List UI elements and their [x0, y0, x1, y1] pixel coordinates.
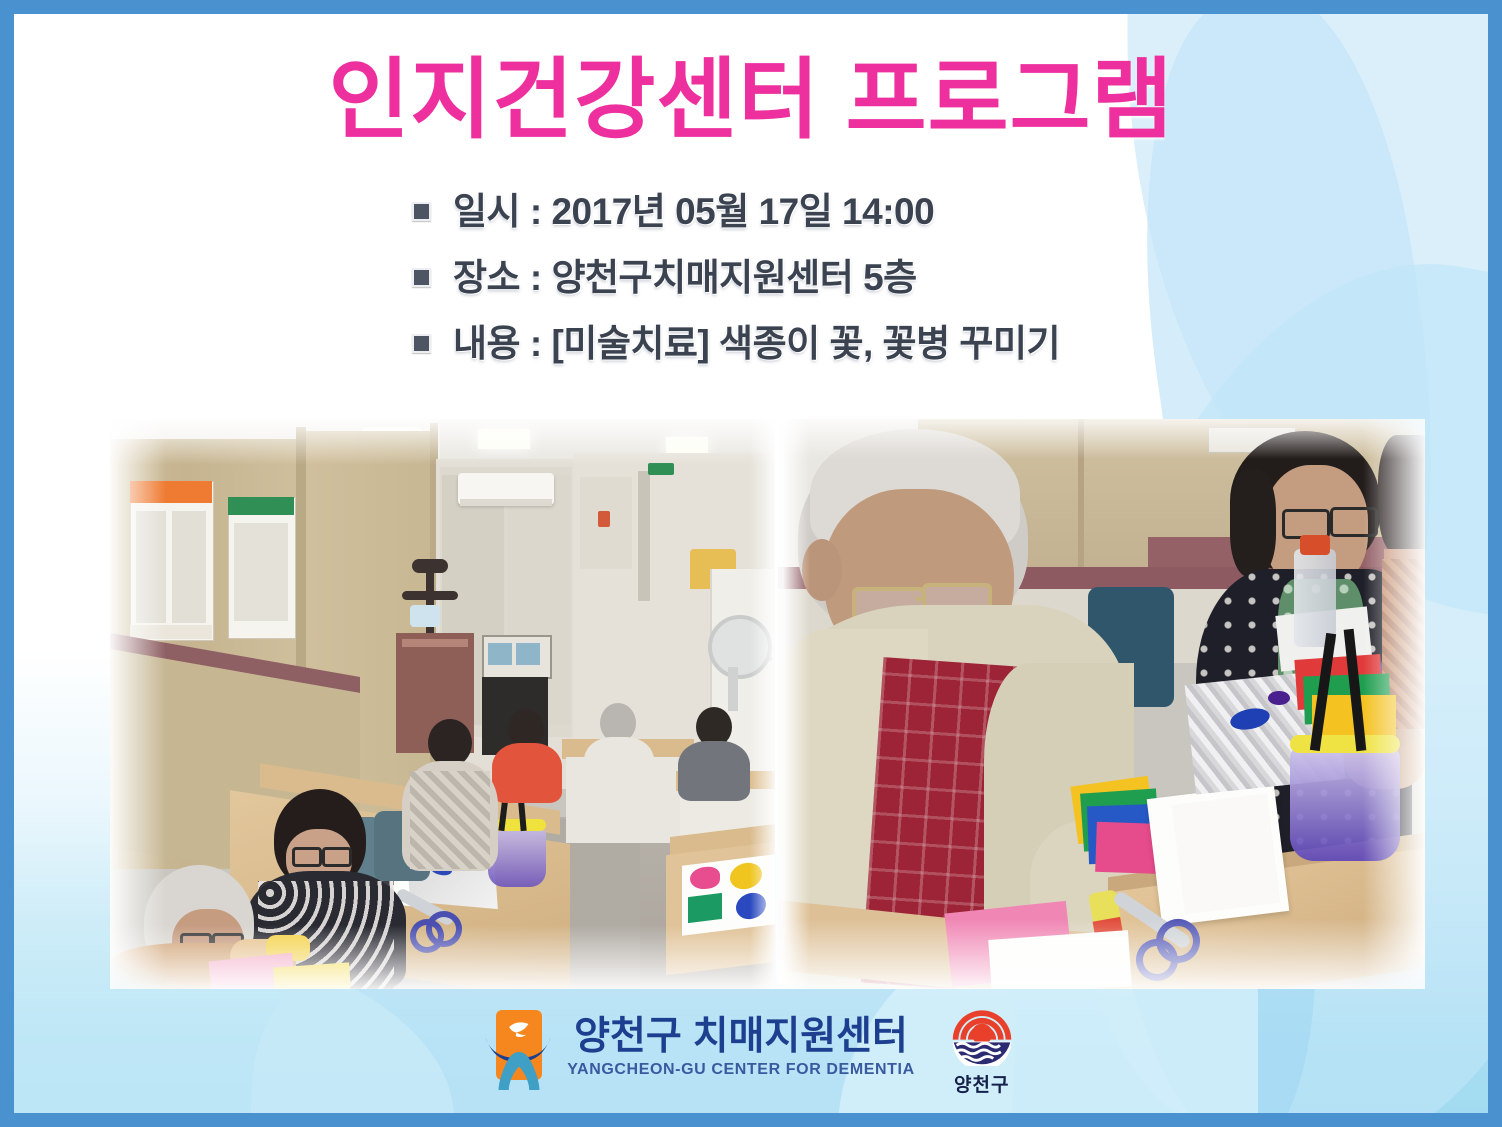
square-bullet-icon	[412, 334, 431, 353]
photo-collage	[110, 419, 1425, 989]
detail-content-text: 내용 : [미술치료] 색종이 꽃, 꽃병 꾸미기	[453, 324, 1060, 364]
yangcheon-dementia-center-logo-icon	[487, 1008, 549, 1088]
footer-logos: 양천구 치매지원센터 YANGCHEON-GU CENTER FOR DEMEN…	[14, 983, 1488, 1113]
center-name-english: YANGCHEON-GU CENTER FOR DEMENTIA	[567, 1061, 915, 1079]
detail-list: 일시 : 2017년 05월 17일 14:00 장소 : 양천구치매지원센터 …	[14, 192, 1488, 390]
detail-place-text: 장소 : 양천구치매지원센터 5층	[453, 258, 917, 298]
photo-seam	[750, 419, 810, 989]
center-name-block: 양천구 치매지원센터 YANGCHEON-GU CENTER FOR DEMEN…	[567, 1017, 915, 1079]
list-item: 장소 : 양천구치매지원센터 5층	[14, 258, 1488, 298]
yangcheon-gu-emblem: 양천구	[949, 1000, 1015, 1097]
list-item: 일시 : 2017년 05월 17일 14:00	[14, 192, 1488, 232]
page-title: 인지건강센터 프로그램	[14, 56, 1488, 144]
poster-frame: 인지건강센터 프로그램 일시 : 2017년 05월 17일 14:00 장소 …	[0, 0, 1502, 1127]
center-name-korean: 양천구 치매지원센터	[574, 1017, 908, 1058]
seniors-closeup-photo	[778, 419, 1425, 989]
yangcheon-gu-emblem-icon	[949, 1000, 1015, 1066]
square-bullet-icon	[412, 202, 431, 221]
square-bullet-icon	[412, 268, 431, 287]
poster-canvas: 인지건강센터 프로그램 일시 : 2017년 05월 17일 14:00 장소 …	[14, 14, 1488, 1113]
teal-figure-icon	[497, 1052, 541, 1090]
classroom-wide-photo	[110, 419, 775, 989]
detail-date-text: 일시 : 2017년 05월 17일 14:00	[453, 192, 934, 232]
district-label: 양천구	[954, 1070, 1009, 1097]
list-item: 내용 : [미술치료] 색종이 꽃, 꽃병 꾸미기	[14, 324, 1488, 364]
